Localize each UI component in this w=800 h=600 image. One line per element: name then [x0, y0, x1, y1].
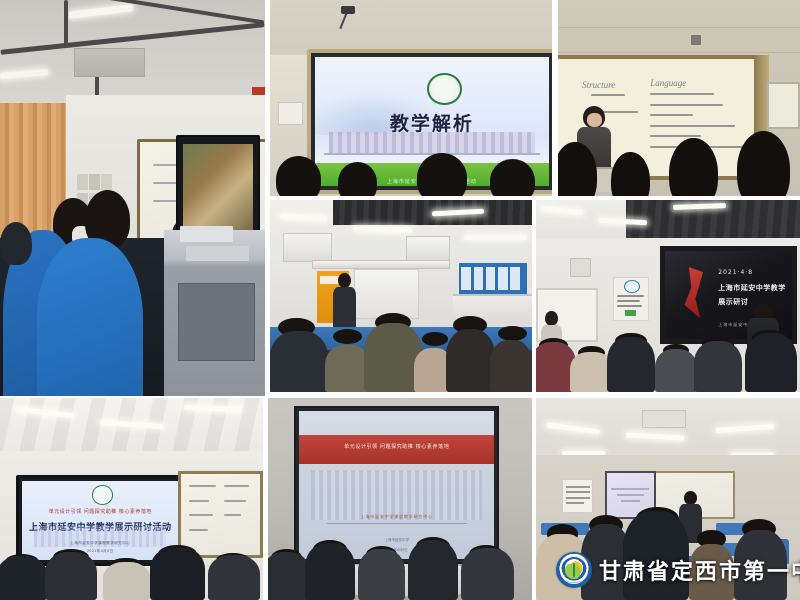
whiteboard-writing [650, 114, 693, 116]
whiteboard-writing [650, 135, 701, 137]
air-duct [74, 48, 145, 78]
wall-band [558, 27, 800, 53]
wall-speaker [278, 102, 303, 126]
blue-wall-cabinets [459, 263, 527, 294]
whiteboard-writing [189, 485, 216, 487]
slide-line-1: 2021·4·8 [718, 269, 753, 276]
audience-heads [558, 149, 800, 196]
emblem-stem [573, 563, 575, 577]
slide-building-graphic [311, 470, 482, 520]
panel-whiteboard-english-lecture: Structure Language [558, 0, 800, 196]
student-head [0, 222, 32, 266]
photo-content: 2021·4·8 上海市延安中学教学 展示研讨 上海市延安中学 [536, 200, 800, 392]
panel-laboratory-observers [270, 200, 532, 392]
photo-content: 单元设计引领 问题探究助推 核心素养落地 上海市延安中学课程教学研究中心 上海市… [268, 398, 532, 600]
slide-organizer: 上海市延安中学课程教学研究中心 [299, 514, 494, 520]
fume-hood [406, 236, 450, 261]
side-board [767, 82, 800, 129]
whiteboard-writing [189, 514, 213, 516]
slide-ribbon-graphic [683, 267, 703, 318]
slide-line-3: 展示研讨 [718, 297, 748, 307]
monitor-screen [183, 144, 253, 236]
audience-crowd [536, 323, 800, 392]
slide-title: 教学解析 [315, 109, 550, 136]
audience-crowd [0, 539, 263, 600]
ceiling-light [464, 235, 527, 240]
projector-icon [341, 6, 355, 14]
whiteboard-writing [650, 104, 722, 106]
participant-crowd [268, 527, 532, 600]
panel-led-screen-teaching-analysis: 教学解析 上海市延安中学教学展示研讨活动 [270, 0, 552, 196]
whiteboard-writing [224, 500, 246, 502]
photo-content: Structure Language [558, 0, 800, 196]
whiteboard-writing [591, 94, 625, 96]
wall-fixture [691, 35, 701, 45]
whiteboard-writing [189, 529, 208, 531]
overhead-beam [312, 260, 450, 270]
plaque-emblem-icon [624, 280, 640, 293]
whiteboard-writing [224, 485, 249, 487]
school-name-text: 甘肃省定西市第一中学 [599, 554, 800, 586]
whiteboard-writing [650, 93, 714, 95]
observer-crowd [270, 311, 532, 392]
panel-projection-round-table-seminar: 单元设计引领 问题探究助推 核心素养落地 上海市延安中学课程教学研究中心 上海市… [268, 398, 532, 600]
photo-content [270, 200, 532, 392]
whiteboard-writing [650, 125, 735, 127]
desk-paper [180, 226, 233, 242]
watermark: 甘肃省定西市第一中学 [556, 552, 800, 588]
wall-plaque [613, 277, 649, 321]
panel-dark-slide-presentation: 2021·4·8 上海市延安中学教学 展示研讨 上海市延安中学 [536, 200, 800, 392]
desk-paper [186, 246, 250, 262]
wall-vent [570, 258, 590, 277]
panel-led-screen-event-title: 单元设计引领 问题探究助推 核心素养落地 上海市延安中学教学展示研讨活动 上海市… [0, 398, 263, 600]
fume-hood [283, 233, 332, 262]
panel-classroom-lesson-observation [0, 0, 265, 396]
slide-line-2: 上海市延安中学教学 [718, 283, 786, 293]
slide-banner: 单元设计引领 问题探究助推 核心素养落地 [299, 435, 494, 465]
plaque-green-band [625, 310, 637, 316]
whiteboard-writing [224, 514, 241, 516]
slide-banner-text: 单元设计引领 问题探究助推 核心素养落地 [299, 443, 494, 450]
whiteboard-note-structure: Structure [582, 80, 615, 90]
whiteboard-note-language: Language [650, 78, 686, 88]
audience-heads [270, 165, 552, 196]
photo-content: 单元设计引领 问题探究助推 核心素养落地 上海市延安中学教学展示研讨活动 上海市… [0, 398, 263, 600]
ceiling-pipe [64, 0, 68, 48]
whiteboard-writing [189, 500, 210, 502]
slide-subtitle: 单元设计引领 问题探究助推 核心素养落地 [22, 508, 179, 515]
photo-collage: 教学解析 上海市延安中学教学展示研讨活动 Structure Language [0, 0, 800, 600]
school-emblem-icon [556, 552, 592, 588]
slide-divider [327, 523, 467, 524]
school-emblem-icon [427, 73, 461, 105]
photo-content: 教学解析 上海市延安中学教学展示研讨活动 [270, 0, 552, 196]
school-emblem-icon [92, 485, 113, 504]
ceiling-vent [642, 410, 686, 428]
photo-content [0, 0, 265, 396]
student-torso [37, 238, 143, 396]
